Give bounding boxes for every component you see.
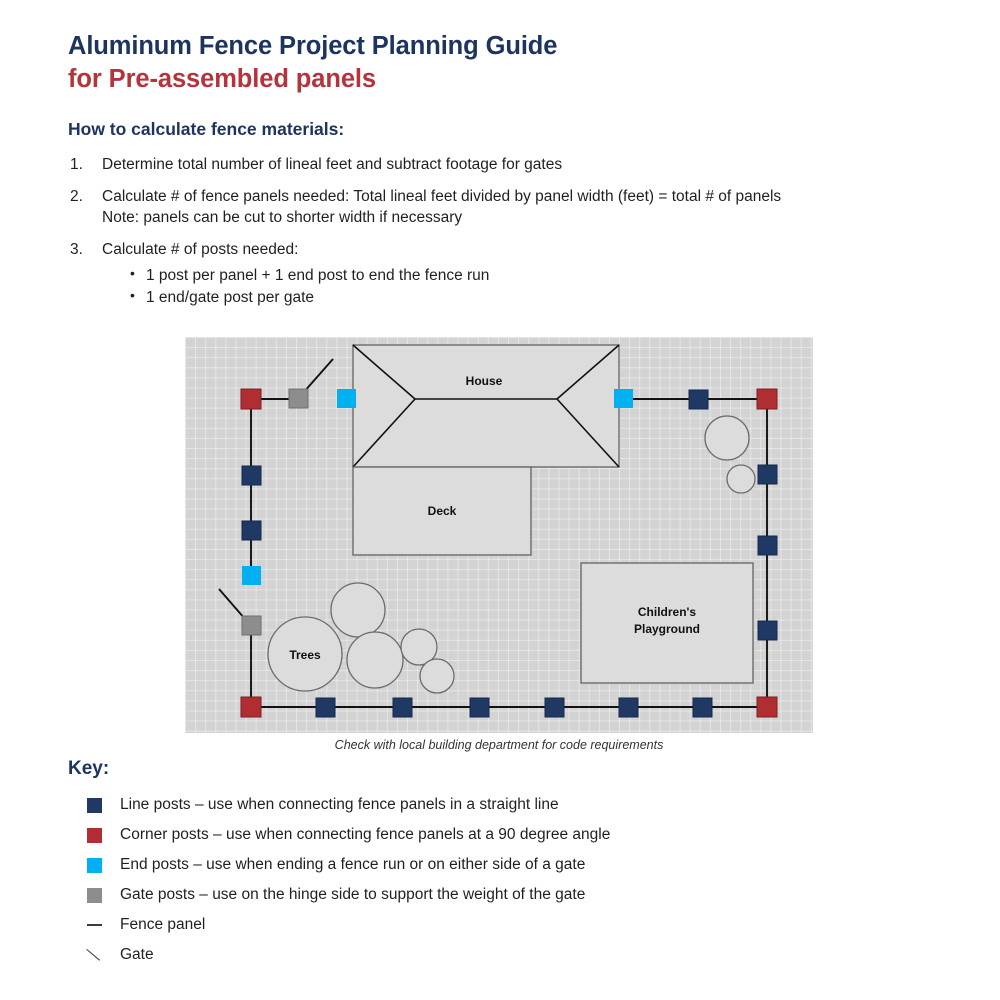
sub-item: 1 post per panel + 1 end post to end the…	[130, 265, 1000, 287]
page-root: Aluminum Fence Project Planning Guide fo…	[0, 0, 1000, 1000]
step-number: 2.	[70, 186, 83, 207]
line-post-right-3	[758, 621, 777, 640]
swatch-cell	[68, 924, 120, 926]
key-section: Key: Line posts – use when connecting fe…	[68, 758, 968, 970]
line-post-bottom-4	[545, 698, 564, 717]
tree-cluster-right	[705, 416, 755, 493]
howto-step-3-sublist: 1 post per panel + 1 end post to end the…	[102, 265, 1000, 309]
gate-swatch-icon	[86, 947, 102, 963]
end-post-left-run	[242, 566, 261, 585]
gate-post-bottom-left	[242, 616, 261, 635]
line-post-left-2	[242, 521, 261, 540]
key-label: Gate posts – use on the hinge side to su…	[120, 886, 585, 905]
corner-post-top-left	[241, 389, 261, 409]
swatch-cell	[68, 947, 120, 963]
gate-lines	[219, 359, 333, 619]
diagram-svg: House Deck Children's Playground Trees	[185, 337, 813, 733]
step-note: Note: panels can be cut to shorter width…	[102, 207, 1000, 228]
tree-cluster-left	[268, 583, 454, 693]
swatch-cell	[68, 798, 120, 813]
gate-top-left	[303, 359, 333, 393]
key-item-gate-posts: Gate posts – use on the hinge side to su…	[68, 880, 968, 910]
key-item-corner-posts: Corner posts – use when connecting fence…	[68, 820, 968, 850]
corner-post-swatch-icon	[87, 828, 102, 843]
line-post-bottom-6	[693, 698, 712, 717]
step-text: Calculate # of fence panels needed: Tota…	[102, 188, 781, 205]
line-post-bottom-2	[393, 698, 412, 717]
corner-post-top-right	[757, 389, 777, 409]
swatch-cell	[68, 888, 120, 903]
fence-layout-diagram: House Deck Children's Playground Trees	[185, 337, 813, 733]
sub-item: 1 end/gate post per gate	[130, 287, 1000, 309]
line-post-bottom-1	[316, 698, 335, 717]
key-label: Line posts – use when connecting fence p…	[120, 796, 559, 815]
playground-label-line2: Playground	[634, 622, 700, 636]
key-item-gate: Gate	[68, 940, 968, 970]
gate-post-swatch-icon	[87, 888, 102, 903]
fence-panel-swatch-icon	[87, 924, 102, 926]
key-label: End posts – use when ending a fence run …	[120, 856, 585, 875]
key-heading: Key:	[68, 758, 968, 780]
end-post-house-west	[337, 389, 356, 408]
playground-label-line1: Children's	[638, 605, 697, 619]
deck-label: Deck	[428, 504, 457, 518]
line-post-right-1	[758, 465, 777, 484]
howto-step-3: 3. Calculate # of posts needed: 1 post p…	[68, 239, 1000, 308]
trees-label: Trees	[289, 648, 321, 662]
howto-step-1: 1. Determine total number of lineal feet…	[68, 154, 1000, 175]
key-item-end-posts: End posts – use when ending a fence run …	[68, 850, 968, 880]
howto-heading: How to calculate fence materials:	[68, 119, 1000, 140]
corner-post-bottom-left	[241, 697, 261, 717]
end-post-house-east	[614, 389, 633, 408]
corner-post-bottom-right	[757, 697, 777, 717]
key-item-fence-panel: Fence panel	[68, 910, 968, 940]
gate-bottom-left	[219, 589, 245, 619]
diagram-caption: Check with local building department for…	[185, 738, 813, 752]
line-post-swatch-icon	[87, 798, 102, 813]
howto-step-list: 1. Determine total number of lineal feet…	[68, 154, 1000, 308]
page-title-line2: for Pre-assembled panels	[68, 63, 1000, 96]
title-block: Aluminum Fence Project Planning Guide fo…	[68, 0, 1000, 95]
gate-post-top-left	[289, 389, 308, 408]
key-label: Corner posts – use when connecting fence…	[120, 826, 610, 845]
step-number: 3.	[70, 239, 83, 260]
line-post-bottom-3	[470, 698, 489, 717]
step-text: Determine total number of lineal feet an…	[102, 156, 562, 173]
page-title-line1: Aluminum Fence Project Planning Guide	[68, 30, 1000, 63]
key-label: Gate	[120, 946, 154, 965]
house-label: House	[466, 374, 503, 388]
swatch-cell	[68, 828, 120, 843]
howto-step-2: 2. Calculate # of fence panels needed: T…	[68, 186, 1000, 228]
line-post-left-1	[242, 466, 261, 485]
swatch-cell	[68, 858, 120, 873]
step-number: 1.	[70, 154, 83, 175]
house-structure	[353, 345, 619, 467]
line-post-right-2	[758, 536, 777, 555]
line-post-top-right-1	[689, 390, 708, 409]
step-text: Calculate # of posts needed:	[102, 241, 298, 258]
end-post-swatch-icon	[87, 858, 102, 873]
line-post-bottom-5	[619, 698, 638, 717]
key-label: Fence panel	[120, 916, 205, 935]
key-item-line-posts: Line posts – use when connecting fence p…	[68, 790, 968, 820]
